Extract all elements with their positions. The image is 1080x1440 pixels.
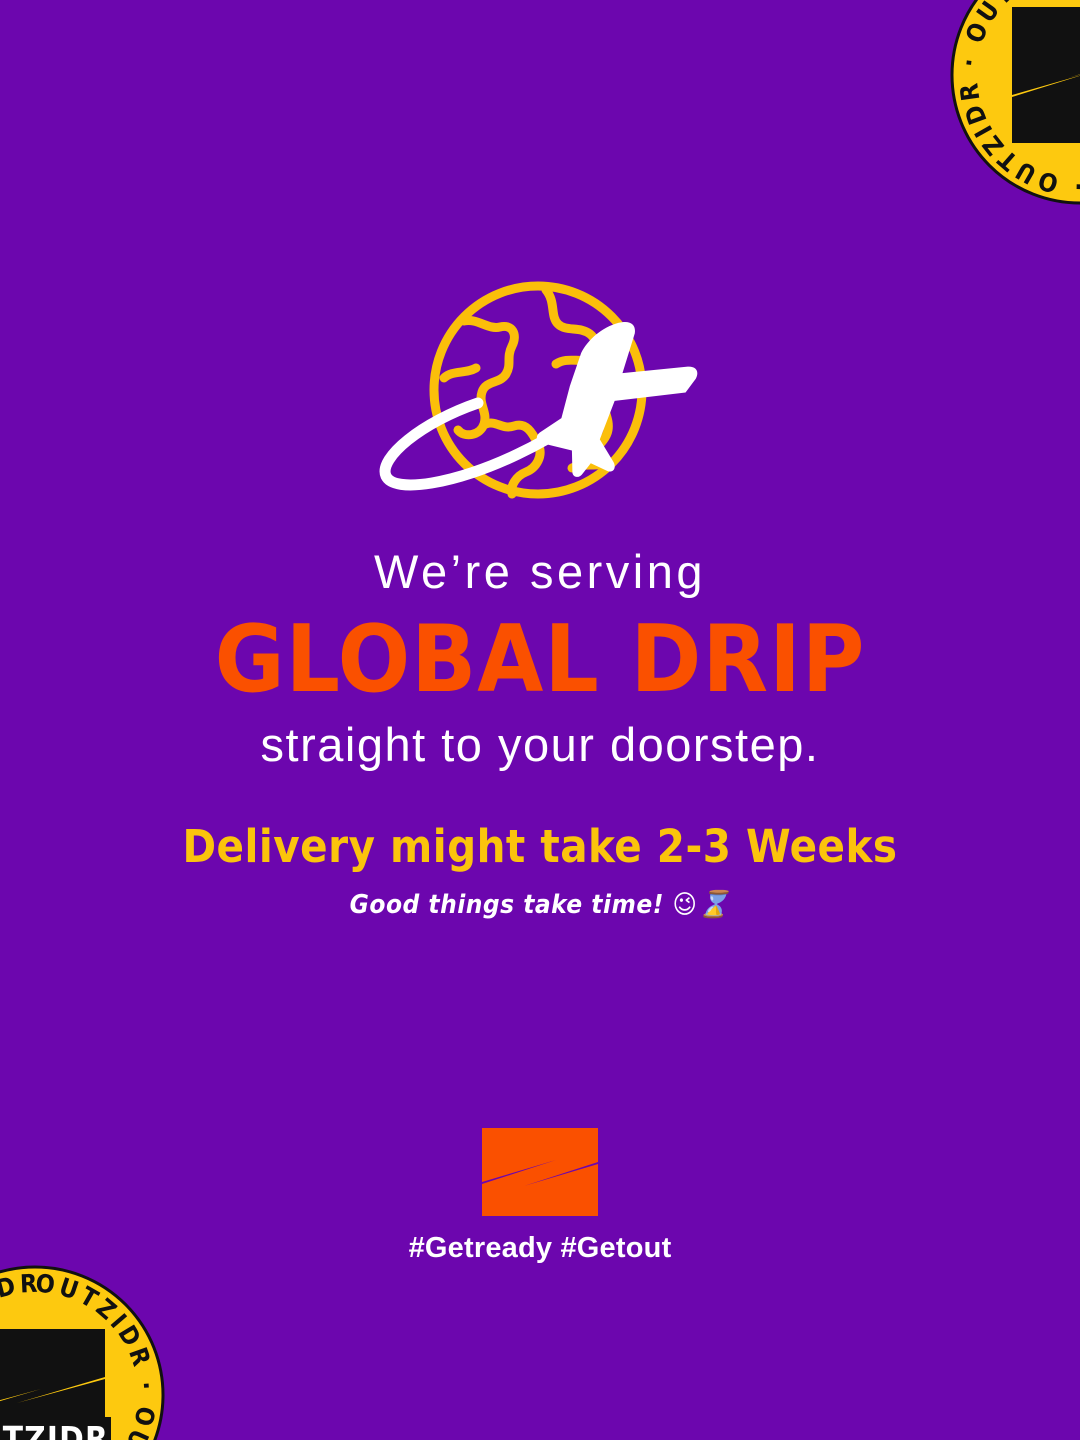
z-monogram-icon (1012, 7, 1080, 143)
headline-block: We’re serving GLOBAL DRIP straight to yo… (0, 548, 1080, 768)
page-title: GLOBAL DRIP (0, 611, 1080, 709)
seal-wordmark-text: OUTZIDR (0, 1419, 109, 1440)
promo-poster: OUTZIDR · OUTZIDR · OUTZIDR · OUTZIDR · … (0, 0, 1080, 1440)
delivery-notice: Delivery might take 2-3 Weeks Good thing… (0, 822, 1080, 921)
globe-with-airplane-icon (360, 272, 720, 512)
hashtags-text: #Getready #Getout (0, 1232, 1080, 1265)
brand-seal-top-right: OUTZIDR · OUTZIDR · OUTZIDR · OUTZIDR · (950, 0, 1080, 205)
outzidr-z-logo (478, 1126, 602, 1218)
subline-text: straight to your doorstep. (0, 721, 1080, 768)
eyebrow-text: We’re serving (0, 548, 1080, 595)
footer-brand-block: #Getready #Getout (0, 1126, 1080, 1265)
delivery-reassurance-text: Good things take time! 😉⌛ (0, 890, 1080, 921)
brand-seal-bottom-left: OUTZIDR · OUTZIDR · OUTZIDR · OUTZIDR · … (0, 1265, 165, 1440)
delivery-eta-text: Delivery might take 2-3 Weeks (0, 822, 1080, 872)
